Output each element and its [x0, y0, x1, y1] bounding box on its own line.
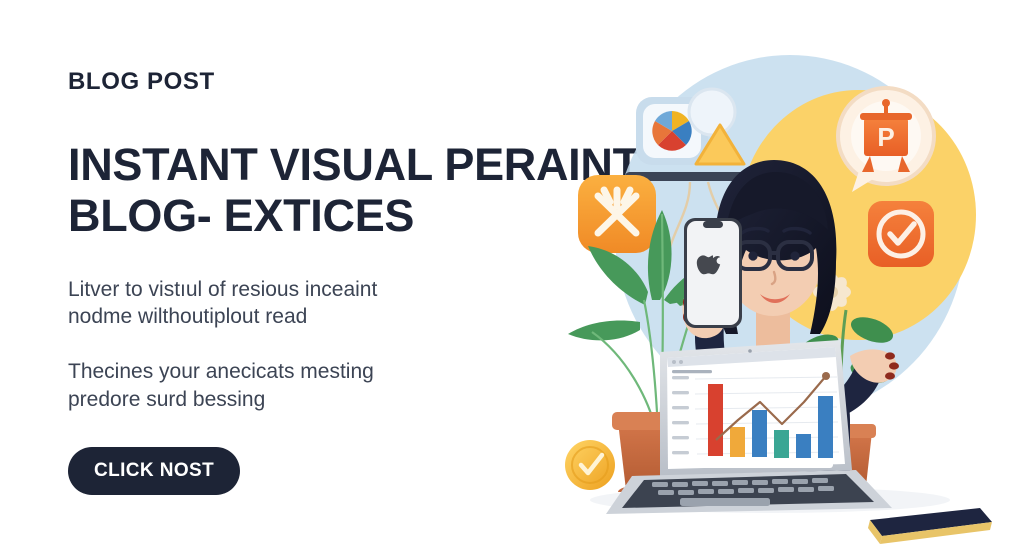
click-nost-button[interactable]: CLICK NOST — [68, 447, 240, 495]
paragraph-1-line-2: nodme wilthoutiplout read — [68, 303, 588, 330]
paragraph-1-line-1: Litver to vistıul of resious inceaint — [68, 276, 588, 303]
paragraph-2-line-1: Thecines your anecicats mesting — [68, 358, 588, 385]
paragraph-2-line-2: predore surd bessing — [68, 386, 588, 413]
check-circle-icon — [868, 201, 934, 267]
blog-post-banner: BLOG POST INSTANT VISUAL PERAINT BLOG- E… — [0, 0, 1024, 559]
crossed-tools-icon — [578, 175, 656, 253]
page-title: INSTANT VISUAL PERAINT BLOG- EXTICES — [68, 140, 588, 242]
headline-line-2: BLOG- EXTICES — [68, 191, 588, 242]
svg-text:P: P — [877, 122, 894, 152]
eyebrow-label: BLOG POST — [68, 70, 588, 94]
headline-line-1: INSTANT VISUAL PERAINT — [68, 140, 588, 191]
apple-logo — [697, 255, 720, 274]
smartphone — [684, 218, 742, 328]
magnifier-icon — [689, 89, 735, 135]
text-column: BLOG POST INSTANT VISUAL PERAINT BLOG- E… — [68, 70, 588, 495]
paragraph-1: Litver to vistıul of resious inceaint no… — [68, 276, 588, 331]
hero-illustration: P — [540, 0, 1024, 559]
paragraph-2: Thecines your anecicats mesting predore … — [68, 358, 588, 413]
body-copy: Litver to vistıul of resious inceaint no… — [68, 276, 588, 413]
gold-coin-check — [565, 440, 615, 490]
